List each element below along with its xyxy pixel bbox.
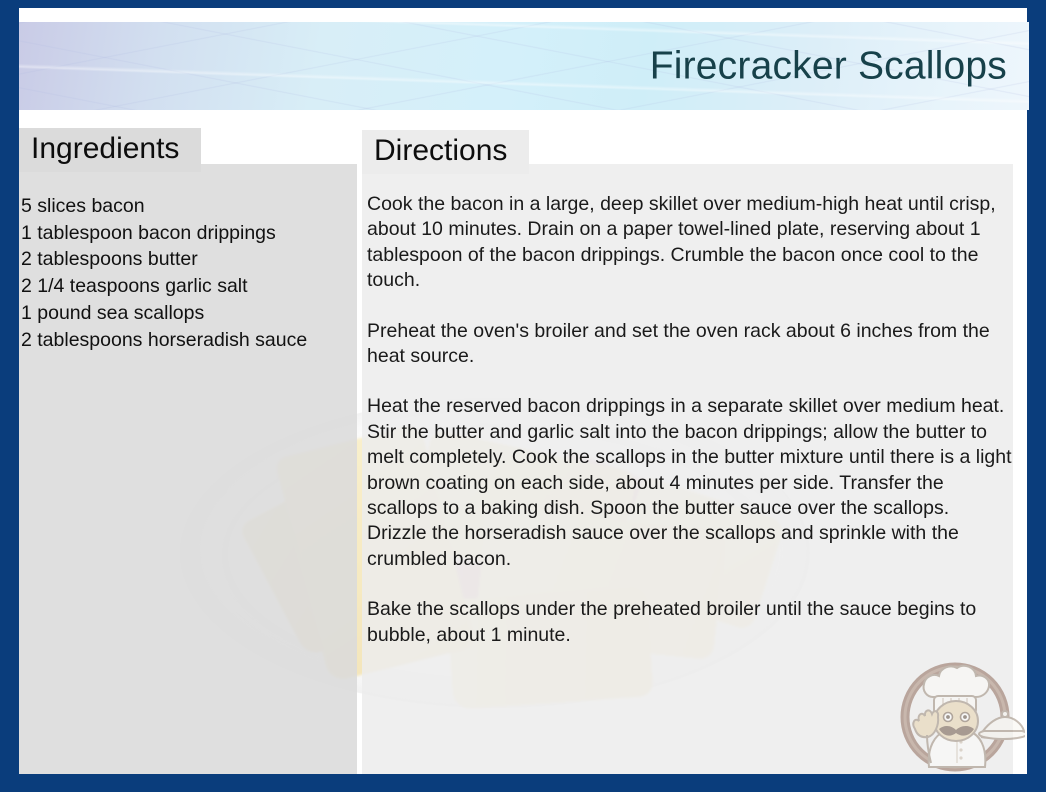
direction-step: Heat the reserved bacon drippings in a s… [367,394,1013,572]
directions-heading: Directions [362,130,529,174]
direction-step: Cook the bacon in a large, deep skillet … [367,192,1013,294]
recipe-card: Firecracker Scallops Ingredients Directi… [0,0,1046,792]
chef-logo-icon [893,645,1025,777]
ingredients-list: 5 slices bacon 1 tablespoon bacon drippi… [21,193,351,353]
ingredient-item: 5 slices bacon [21,193,351,220]
ingredient-item: 2 tablespoons horseradish sauce [21,327,351,354]
page-title: Firecracker Scallops [650,47,1007,86]
chef-logo [893,645,1025,777]
ingredient-item: 2 1/4 teaspoons garlic salt [21,273,351,300]
title-banner: Firecracker Scallops [19,22,1029,110]
directions-body: Cook the bacon in a large, deep skillet … [367,192,1013,648]
ingredients-heading: Ingredients [19,128,201,172]
direction-step: Bake the scallops under the preheated br… [367,597,1013,648]
ingredient-item: 2 tablespoons butter [21,246,351,273]
direction-step: Preheat the oven's broiler and set the o… [367,319,1013,370]
ingredient-item: 1 pound sea scallops [21,300,351,327]
ingredient-item: 1 tablespoon bacon drippings [21,220,351,247]
